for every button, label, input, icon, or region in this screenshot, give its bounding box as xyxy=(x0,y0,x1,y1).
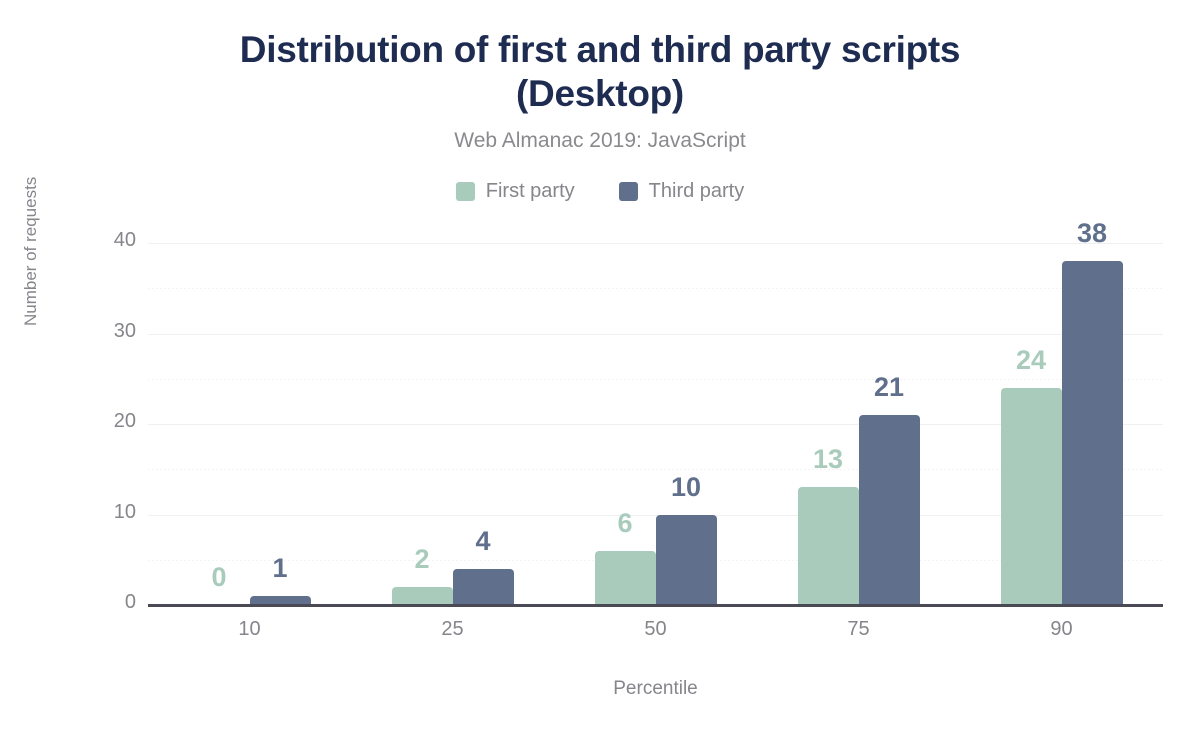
bar-value-label: 24 xyxy=(1001,347,1062,374)
bar-value-label: 38 xyxy=(1062,220,1123,247)
bar-first-party[interactable] xyxy=(595,551,656,605)
bar-value-label: 0 xyxy=(189,564,250,591)
x-axis-tick-label: 90 xyxy=(1002,618,1122,641)
bar-third-party[interactable] xyxy=(453,569,514,605)
x-axis-tick-label: 75 xyxy=(799,618,919,641)
bar-group-50: 610 xyxy=(595,243,717,605)
y-axis-tick-label: 0 xyxy=(80,591,136,614)
y-axis-title: Number of requests xyxy=(21,106,41,326)
bar-group-25: 24 xyxy=(392,243,514,605)
bar-third-party[interactable] xyxy=(859,415,920,605)
x-axis-tick-label: 50 xyxy=(596,618,716,641)
plot-wrapper: Number of requests 012461013212438 01020… xyxy=(0,0,1200,742)
x-axis-tick-label: 10 xyxy=(190,618,310,641)
y-axis-tick-label: 10 xyxy=(80,501,136,524)
y-axis-tick-label: 30 xyxy=(80,320,136,343)
bar-group-75: 1321 xyxy=(798,243,920,605)
bar-value-label: 4 xyxy=(453,528,514,555)
bar-value-label: 6 xyxy=(595,510,656,537)
bar-first-party[interactable] xyxy=(1001,388,1062,605)
bar-group-10: 01 xyxy=(189,243,311,605)
bar-group-90: 2438 xyxy=(1001,243,1123,605)
bar-value-label: 2 xyxy=(392,546,453,573)
bar-first-party[interactable] xyxy=(392,587,453,605)
y-axis-tick-label: 20 xyxy=(80,410,136,433)
bar-value-label: 13 xyxy=(798,446,859,473)
bar-value-label: 10 xyxy=(656,474,717,501)
bar-third-party[interactable] xyxy=(656,515,717,606)
bar-chart: Distribution of first and third party sc… xyxy=(0,0,1200,742)
bar-first-party[interactable] xyxy=(798,487,859,605)
x-axis-tick-label: 25 xyxy=(393,618,513,641)
y-axis-tick-label: 40 xyxy=(80,229,136,252)
bar-third-party[interactable] xyxy=(1062,261,1123,605)
bar-value-label: 1 xyxy=(250,555,311,582)
x-axis-baseline xyxy=(148,604,1163,607)
bar-value-label: 21 xyxy=(859,374,920,401)
plot-area: 012461013212438 xyxy=(148,243,1163,605)
x-axis-title: Percentile xyxy=(148,678,1163,700)
